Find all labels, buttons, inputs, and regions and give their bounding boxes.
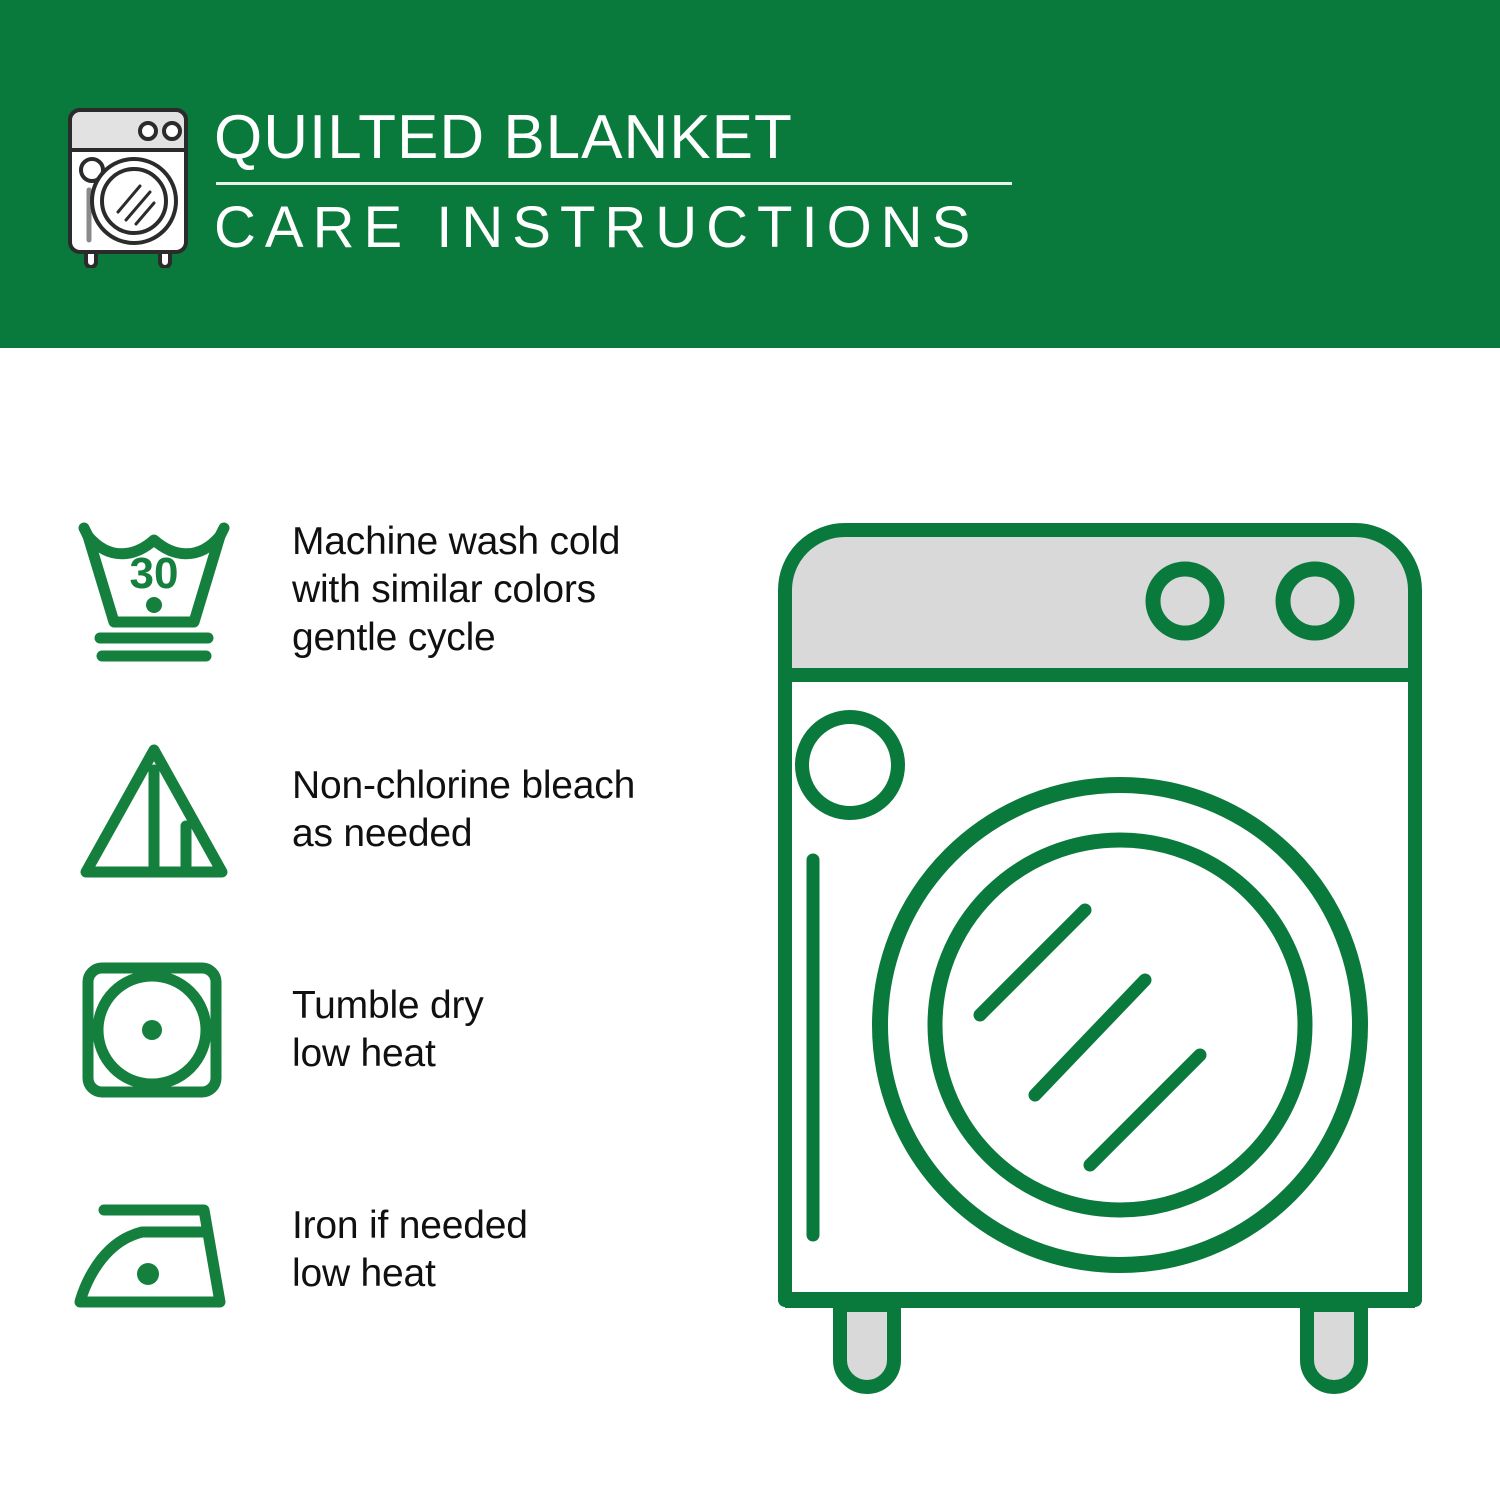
care-row-machine-wash: 30 Machine wash cold with similar colors… — [70, 505, 710, 675]
care-instruction-list: 30 Machine wash cold with similar colors… — [70, 505, 710, 1385]
care-label-tumble-dry: Tumble dry low heat — [292, 982, 710, 1078]
iron-low-heat-icon — [70, 1165, 248, 1335]
page-title: QUILTED BLANKET — [214, 100, 1034, 176]
care-label-line: Iron if needed — [292, 1202, 710, 1250]
care-label-line: Non-chlorine bleach — [292, 762, 710, 810]
machine-leg-right — [1307, 1305, 1361, 1387]
control-panel — [785, 530, 1415, 675]
page-subtitle: CARE INSTRUCTIONS — [214, 193, 1034, 263]
header-text-block: QUILTED BLANKET CARE INSTRUCTIONS — [214, 100, 1034, 263]
care-label-line: as needed — [292, 810, 710, 858]
care-row-tumble-dry: Tumble dry low heat — [70, 945, 710, 1115]
front-load-washing-machine-illustration — [745, 500, 1455, 1430]
header-banner: QUILTED BLANKET CARE INSTRUCTIONS — [0, 0, 1500, 348]
tumble-dry-low-icon — [70, 945, 248, 1115]
washing-machine-icon — [64, 104, 192, 268]
care-label-bleach: Non-chlorine bleach as needed — [292, 762, 710, 858]
care-instructions-infographic: QUILTED BLANKET CARE INSTRUCTIONS 3 — [0, 0, 1500, 1500]
care-label-line: low heat — [292, 1250, 710, 1298]
machine-wash-30-gentle-icon: 30 — [70, 505, 248, 675]
care-row-iron: Iron if needed low heat — [70, 1165, 710, 1335]
machine-leg-left — [840, 1305, 894, 1387]
care-row-bleach: Non-chlorine bleach as needed — [70, 725, 710, 895]
wash-temperature-value: 30 — [130, 549, 179, 598]
title-divider — [216, 182, 1012, 185]
care-label-machine-wash: Machine wash cold with similar colors ge… — [292, 518, 710, 662]
care-label-line: gentle cycle — [292, 614, 710, 662]
care-label-line: low heat — [292, 1030, 710, 1078]
care-label-iron: Iron if needed low heat — [292, 1202, 710, 1298]
non-chlorine-bleach-icon — [70, 725, 248, 895]
care-label-line: with similar colors — [292, 566, 710, 614]
care-label-line: Tumble dry — [292, 982, 710, 1030]
care-label-line: Machine wash cold — [292, 518, 710, 566]
